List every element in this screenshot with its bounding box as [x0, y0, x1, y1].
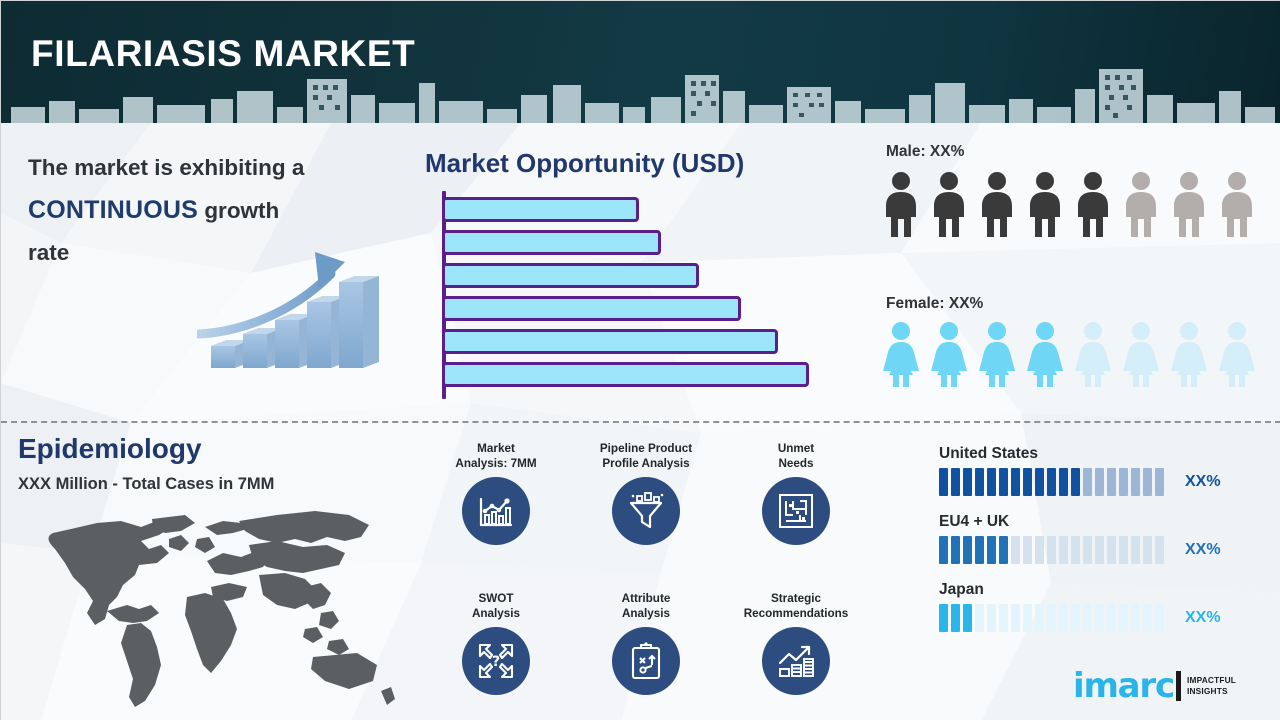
- female-figure-icon: [879, 321, 923, 389]
- segment: [975, 536, 984, 564]
- chart-bar-6: [442, 362, 809, 387]
- segment: [1155, 536, 1164, 564]
- segment: [1047, 468, 1056, 496]
- segment: [1083, 468, 1092, 496]
- male-figure-icon: [1071, 171, 1115, 239]
- country-percent: XX%: [1185, 541, 1221, 559]
- statement-highlight: CONTINUOUS: [28, 196, 198, 224]
- infographic-page: FILARIASIS MARKET The market is exhibiti…: [0, 0, 1280, 720]
- segment: [999, 468, 1008, 496]
- country-row-japan: Japan XX%: [939, 581, 1259, 632]
- male-figure-icon: [879, 171, 923, 239]
- female-figure-icon: [1119, 321, 1163, 389]
- segment: [939, 468, 948, 496]
- segment: [1095, 604, 1104, 632]
- segment: [1071, 536, 1080, 564]
- segment: [1107, 604, 1116, 632]
- segment: [1131, 468, 1140, 496]
- tile-caption: UnmetNeeds: [721, 441, 871, 471]
- country-name: United States: [939, 445, 1259, 463]
- clipboard-strategy-icon: [612, 627, 680, 695]
- analysis-tile-strategic[interactable]: StrategicRecommendations: [721, 591, 871, 695]
- segment: [1023, 604, 1032, 632]
- tile-caption: MarketAnalysis: 7MM: [421, 441, 571, 471]
- country-row-united-states: United States XX%: [939, 445, 1259, 496]
- chart-bar-1: [442, 197, 639, 222]
- page-title: FILARIASIS MARKET: [31, 33, 415, 75]
- segment: [1023, 536, 1032, 564]
- logo-divider: [1176, 671, 1181, 701]
- segment: [999, 604, 1008, 632]
- segment: [1143, 536, 1152, 564]
- country-name: EU4 + UK: [939, 513, 1259, 531]
- tile-caption: SWOTAnalysis: [421, 591, 571, 621]
- segment-track: [939, 604, 1169, 632]
- male-icon-row: [879, 171, 1261, 239]
- female-figure-icon: [1167, 321, 1211, 389]
- chart-bar-4: [442, 296, 741, 321]
- logo-tagline-line-1: IMPACTFUL: [1187, 675, 1236, 686]
- segment: [1155, 604, 1164, 632]
- segment: [951, 604, 960, 632]
- segment: [939, 536, 948, 564]
- segment: [975, 468, 984, 496]
- segment: [1035, 604, 1044, 632]
- country-row-eu4-uk: EU4 + UK XX%: [939, 513, 1259, 564]
- segment: [951, 536, 960, 564]
- country-name: Japan: [939, 581, 1259, 599]
- female-figure-icon: [975, 321, 1019, 389]
- segment-track: [939, 468, 1169, 496]
- segment: [1059, 468, 1068, 496]
- male-figure-icon: [1119, 171, 1163, 239]
- segment: [1155, 468, 1164, 496]
- segment: [1059, 604, 1068, 632]
- male-label: Male: XX%: [886, 143, 964, 161]
- analysis-icon-grid: MarketAnalysis: 7MM Pipeline ProductProf…: [421, 441, 861, 720]
- female-figure-icon: [1023, 321, 1067, 389]
- logo-wordmark: imarc: [1073, 669, 1174, 703]
- female-icon-row: [879, 321, 1261, 389]
- segment: [1011, 604, 1020, 632]
- segment: [939, 604, 948, 632]
- male-figure-icon: [1023, 171, 1067, 239]
- country-bar: XX%: [939, 604, 1259, 632]
- male-figure-icon: [1215, 171, 1259, 239]
- country-bar: XX%: [939, 536, 1259, 564]
- top-section: The market is exhibiting a CONTINUOUS gr…: [1, 123, 1280, 421]
- growth-bars-arrow-icon: [762, 627, 830, 695]
- chart-bar-3: [442, 263, 699, 288]
- segment: [1107, 468, 1116, 496]
- segment: [987, 536, 996, 564]
- male-figure-icon: [927, 171, 971, 239]
- statement-line-2-rest: growth: [198, 198, 279, 223]
- segment: [963, 604, 972, 632]
- analysis-tile-pipeline-product[interactable]: Pipeline ProductProfile Analysis: [571, 441, 721, 545]
- statement-line-1: The market is exhibiting a: [28, 147, 378, 189]
- segment: [1131, 604, 1140, 632]
- segment: [1131, 536, 1140, 564]
- epidemiology-subtitle: XXX Million - Total Cases in 7MM: [18, 475, 274, 494]
- male-figure-icon: [975, 171, 1019, 239]
- segment: [999, 536, 1008, 564]
- segment-track: [939, 536, 1169, 564]
- swot-arrows-question-icon: ?: [462, 627, 530, 695]
- bar-chart-line-icon: [462, 477, 530, 545]
- segment: [1143, 604, 1152, 632]
- segment: [1107, 536, 1116, 564]
- country-percent: XX%: [1185, 473, 1221, 491]
- female-figure-icon: [1215, 321, 1259, 389]
- logo-tagline-line-2: INSIGHTS: [1187, 686, 1236, 697]
- segment: [951, 468, 960, 496]
- country-percent: XX%: [1185, 609, 1221, 627]
- svg-text:?: ?: [492, 654, 500, 670]
- market-opportunity-chart: [436, 191, 826, 401]
- segment: [1071, 468, 1080, 496]
- analysis-tile-market[interactable]: MarketAnalysis: 7MM: [421, 441, 571, 545]
- chart-bar-5: [442, 329, 778, 354]
- segment: [1035, 536, 1044, 564]
- statement-line-2: CONTINUOUS growth: [28, 189, 378, 232]
- segment: [963, 536, 972, 564]
- page-header: FILARIASIS MARKET: [1, 1, 1280, 123]
- market-opportunity-title: Market Opportunity (USD): [425, 148, 744, 179]
- segment: [1095, 468, 1104, 496]
- tile-caption: AttributeAnalysis: [571, 591, 721, 621]
- analysis-tile-attribute[interactable]: AttributeAnalysis: [571, 591, 721, 695]
- world-map-illustration: [9, 501, 414, 716]
- segment: [1047, 604, 1056, 632]
- segment: [963, 468, 972, 496]
- analysis-tile-swot[interactable]: SWOTAnalysis ?: [421, 591, 571, 695]
- segment: [1071, 604, 1080, 632]
- funnel-icon: [612, 477, 680, 545]
- segment: [987, 468, 996, 496]
- female-figure-icon: [1071, 321, 1115, 389]
- growth-chart-illustration: [197, 248, 383, 368]
- segment: [1143, 468, 1152, 496]
- tile-caption: StrategicRecommendations: [721, 591, 871, 621]
- epidemiology-title: Epidemiology: [18, 433, 202, 465]
- imarc-logo: imarc IMPACTFUL INSIGHTS: [1073, 663, 1269, 709]
- segment: [1035, 468, 1044, 496]
- female-label: Female: XX%: [886, 295, 983, 313]
- segment: [1119, 536, 1128, 564]
- segment: [1023, 468, 1032, 496]
- analysis-tile-unmet[interactable]: UnmetNeeds: [721, 441, 871, 545]
- segment: [987, 604, 996, 632]
- segment: [1011, 468, 1020, 496]
- segment: [1083, 536, 1092, 564]
- segment: [1083, 604, 1092, 632]
- segment: [1047, 536, 1056, 564]
- segment: [1119, 604, 1128, 632]
- segment: [975, 604, 984, 632]
- chart-bar-2: [442, 230, 661, 255]
- tile-caption: Pipeline ProductProfile Analysis: [571, 441, 721, 471]
- country-bar: XX%: [939, 468, 1259, 496]
- maze-icon: [762, 477, 830, 545]
- segment: [1011, 536, 1020, 564]
- male-figure-icon: [1167, 171, 1211, 239]
- female-figure-icon: [927, 321, 971, 389]
- segment: [1119, 468, 1128, 496]
- segment: [1095, 536, 1104, 564]
- segment: [1059, 536, 1068, 564]
